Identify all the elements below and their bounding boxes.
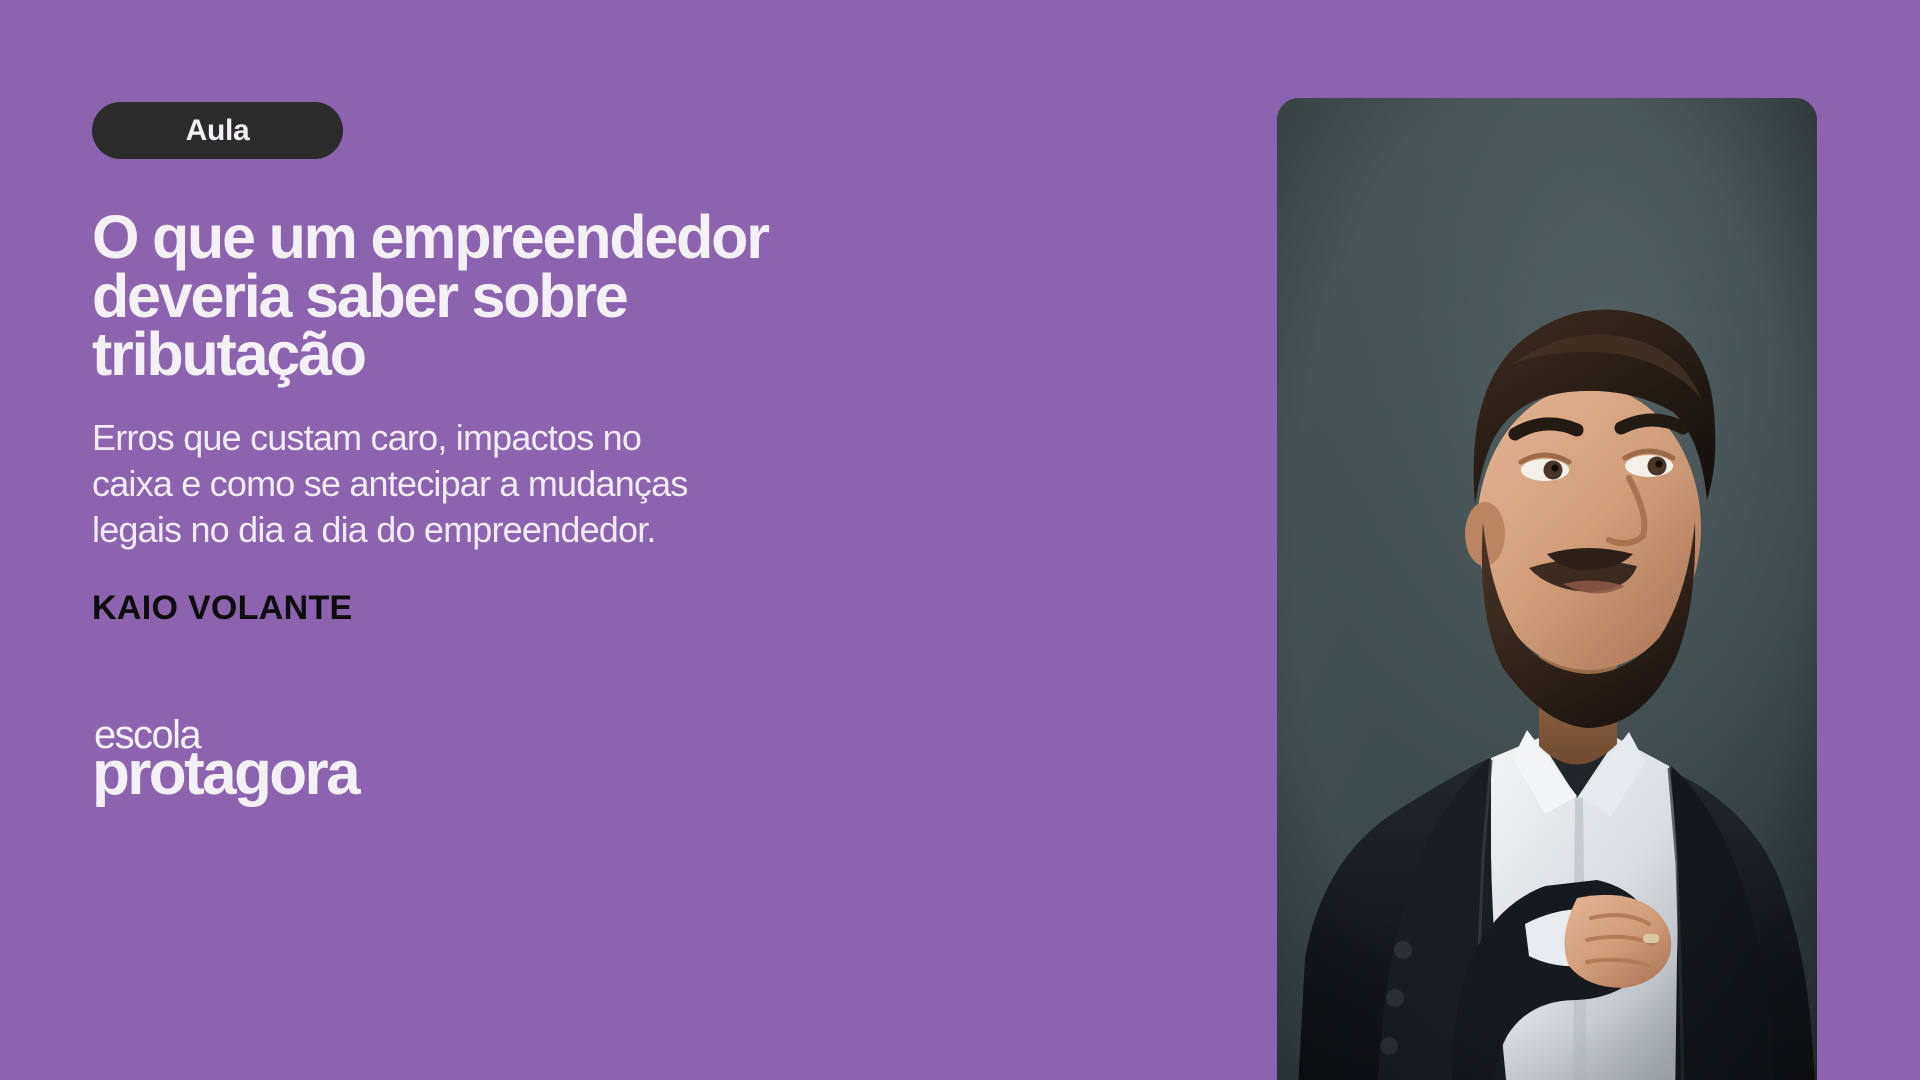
page-title-line-2: deveria saber sobre: [92, 267, 972, 326]
speaker-portrait-image: [1277, 98, 1817, 1080]
page-subtitle-line-2: caixa e como se antecipar a mudanças: [92, 461, 972, 507]
page-subtitle-line-3: legais no dia a dia do empreendedor.: [92, 507, 972, 553]
page-subtitle-line-1: Erros que custam caro, impactos no: [92, 415, 972, 461]
category-badge: Aula: [92, 102, 343, 159]
speaker-photo-card: [1277, 98, 1817, 1080]
speaker-name: KAIO VOLANTE: [92, 589, 353, 628]
page-title-line-1: O que um empreendedor: [92, 208, 972, 267]
page-title: O que um empreendedor deveria saber sobr…: [92, 208, 972, 384]
page-subtitle: Erros que custam caro, impactos no caixa…: [92, 415, 972, 553]
brand-logo-bottom-word: protagora: [92, 743, 358, 805]
content-column: Aula O que um empreendedor deveria saber…: [92, 0, 1052, 1080]
brand-logo: escola protagora: [92, 715, 512, 825]
page-title-line-3: tributação: [92, 325, 972, 384]
category-badge-label: Aula: [186, 114, 250, 148]
